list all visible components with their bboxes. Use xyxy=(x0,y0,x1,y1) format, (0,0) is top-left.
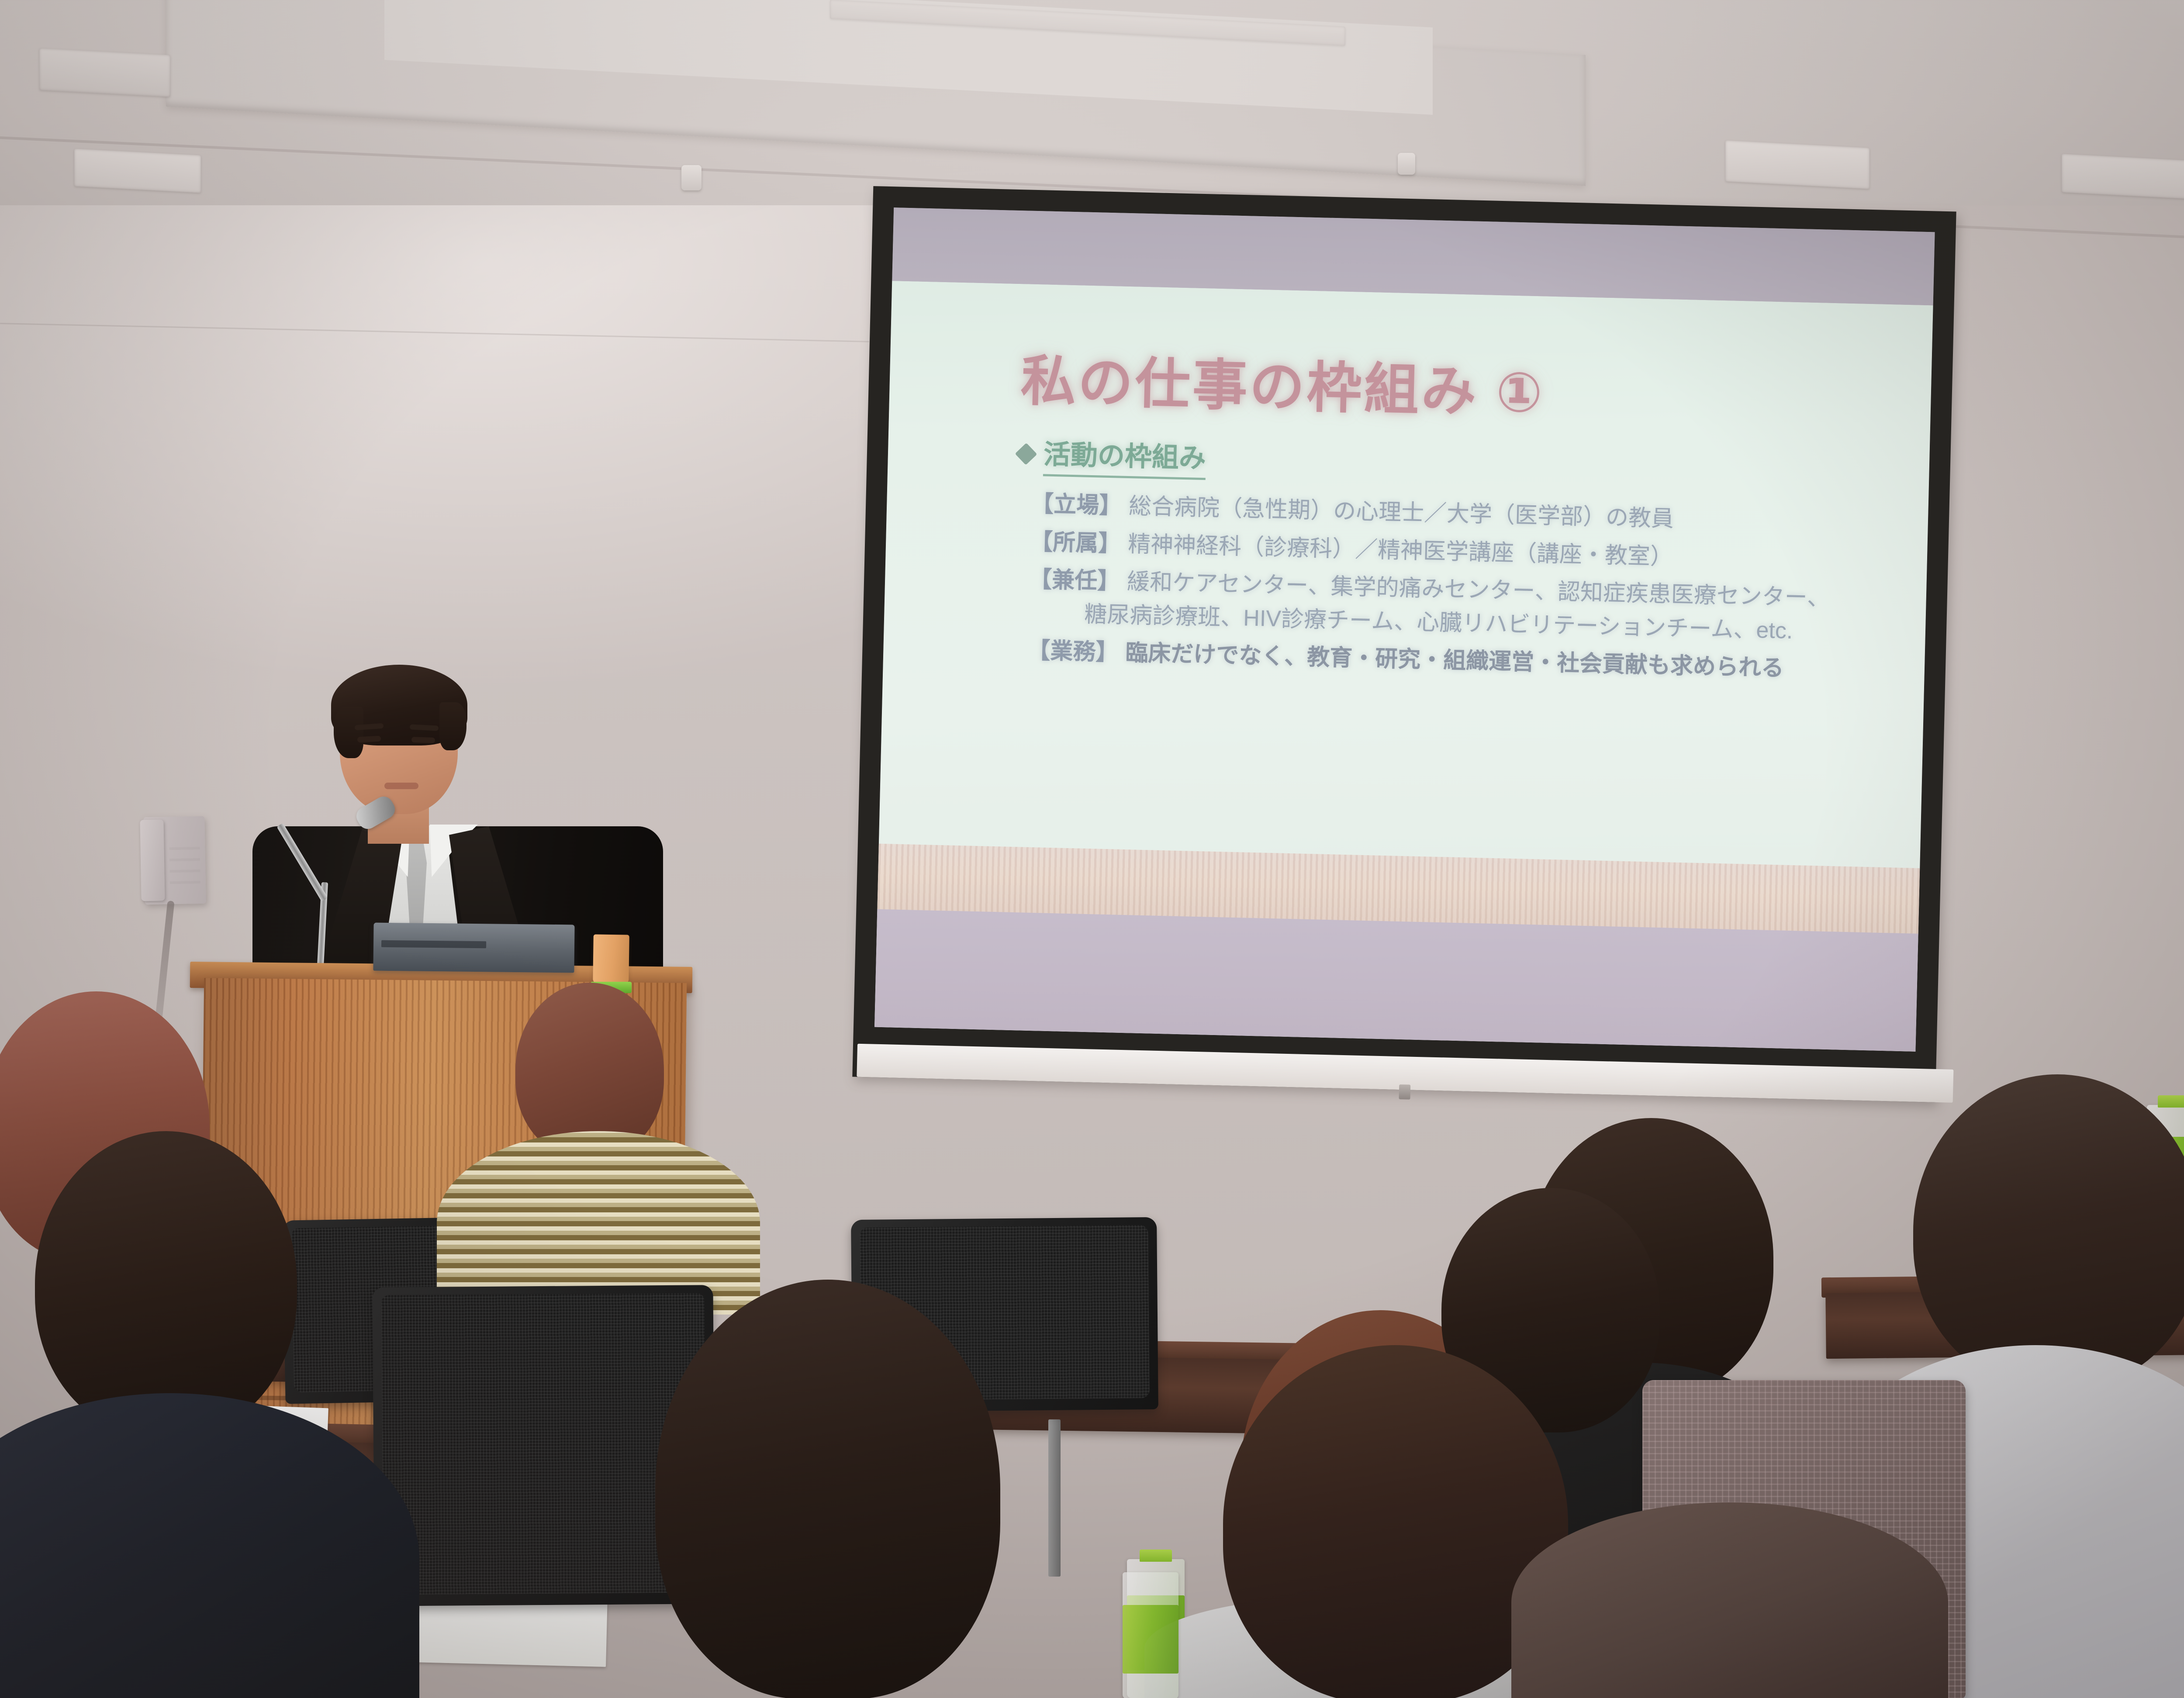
slide-body: 【立場】総合病院（急性期）の心理士／大学（医学部）の教員 【所属】精神神経科（診… xyxy=(1027,490,1897,694)
slide-section-heading: 活動の枠組み xyxy=(1018,431,1206,480)
slide-section-heading-label: 活動の枠組み xyxy=(1043,432,1206,480)
slide-body-line-text: 臨床だけでなく、教育・研究・組織運営・社会貢献も求められる xyxy=(1125,640,1784,681)
laptop-screen-edge xyxy=(381,940,486,949)
slide-body-line-label: 【兼任】 xyxy=(1029,567,1120,594)
paper-cup[interactable] xyxy=(593,934,629,984)
projection-screen: 私の仕事の枠組み ① 活動の枠組み 【立場】総合病院（急性期）の心理士／大学（医… xyxy=(852,186,1956,1102)
ceiling-vent-panel-left xyxy=(39,48,170,97)
presenter-eye-right xyxy=(411,737,435,743)
audience-brown-top xyxy=(1511,1502,1948,1698)
screen-pull-handle-icon[interactable] xyxy=(1399,1084,1410,1100)
slide-body-line-label: 【所属】 xyxy=(1030,529,1121,556)
audience-head xyxy=(1913,1074,2184,1389)
screen-surface: 私の仕事の枠組み ① 活動の枠組み 【立場】総合病院（急性期）の心理士／大学（医… xyxy=(874,207,1935,1052)
ceiling-vent-panel-far-right xyxy=(2062,154,2184,199)
audience-member xyxy=(1511,1437,1948,1698)
audience-head xyxy=(655,1280,1000,1698)
wall-phone[interactable] xyxy=(143,816,206,904)
slide-body-line-text: 総合病院（急性期）の心理士／大学（医学部）の教員 xyxy=(1129,494,1674,531)
audience-dark-top xyxy=(0,1393,419,1698)
slide-title: 私の仕事の枠組み ① xyxy=(1020,336,1546,428)
green-tea-bottle[interactable] xyxy=(1123,1572,1178,1698)
diamond-bullet-icon xyxy=(1015,443,1037,465)
audience-member xyxy=(406,983,756,1315)
slide-bottom-band xyxy=(874,909,1918,1052)
audience-head xyxy=(35,1131,297,1437)
lecture-room-scene: 私の仕事の枠組み ① 活動の枠組み 【立場】総合病院（急性期）の心理士／大学（医… xyxy=(0,0,2184,1698)
presenter-hair xyxy=(331,665,467,745)
bottle-label xyxy=(1123,1605,1178,1674)
sprinkler-head xyxy=(681,165,702,190)
presenter-mouth xyxy=(384,783,418,789)
desk-leg xyxy=(1048,1419,1061,1577)
slide-body-line-label: 【立場】 xyxy=(1031,491,1122,519)
ceiling-vent-panel-right xyxy=(1725,140,1870,189)
sprinkler-head-right xyxy=(1398,153,1415,175)
presentation-slide: 私の仕事の枠組み ① 活動の枠組み 【立場】総合病院（急性期）の心理士／大学（医… xyxy=(874,281,1933,1052)
audience-member xyxy=(0,1131,411,1698)
phone-keypad xyxy=(169,847,200,889)
phone-handset-icon xyxy=(140,819,165,901)
audience-member xyxy=(603,1280,1044,1698)
slide-body-line-label: 【業務】 xyxy=(1027,638,1119,666)
presenter-laptop[interactable] xyxy=(373,923,574,973)
slide-body-line-text: 精神神経科（診療科）／精神医学講座（講座・教室） xyxy=(1128,531,1673,569)
ceiling-speaker xyxy=(74,148,201,193)
